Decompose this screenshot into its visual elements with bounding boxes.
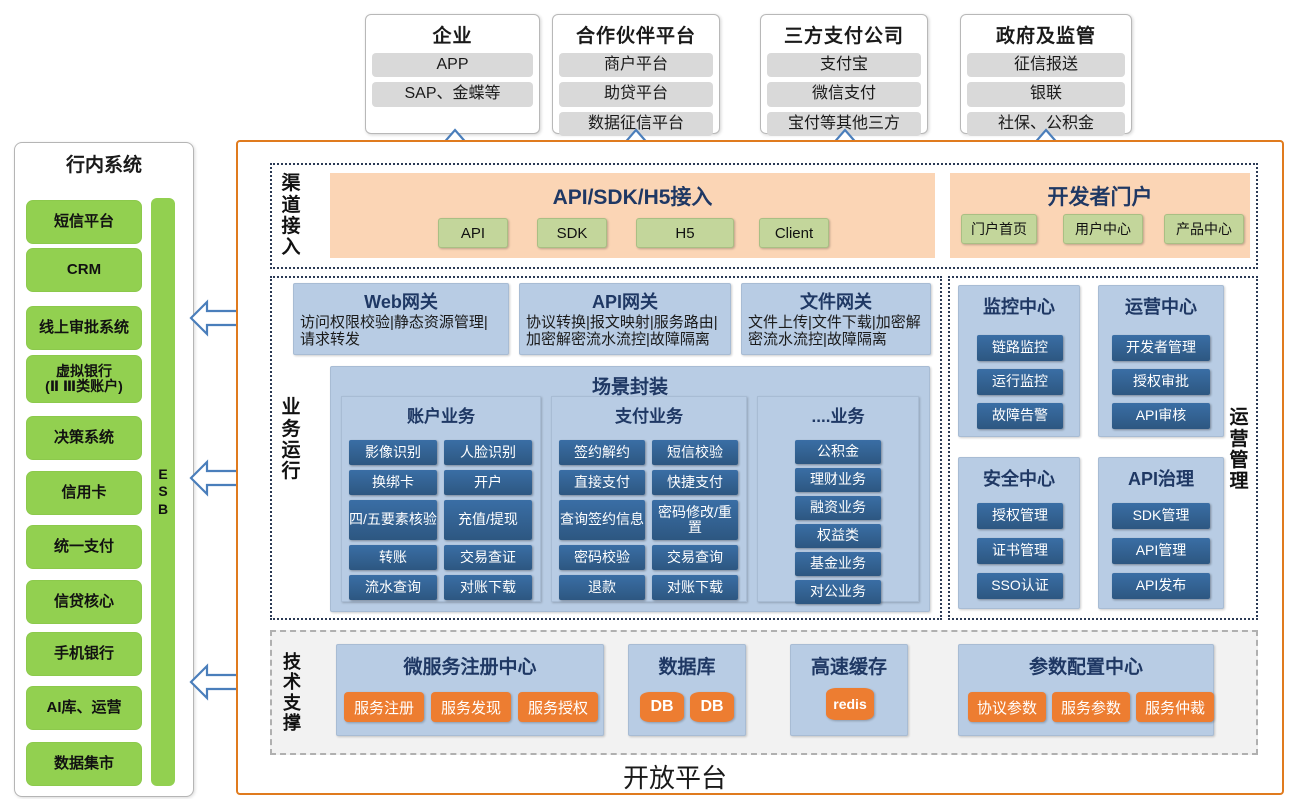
- portal-button-user-center[interactable]: 用户中心: [1063, 214, 1143, 244]
- tech-item-service-register[interactable]: 服务注册: [344, 692, 424, 722]
- partner-item: 银联: [967, 82, 1125, 106]
- scene-item-sign-unsign[interactable]: 签约解约: [559, 440, 645, 465]
- tech-item-service-parameters[interactable]: 服务参数: [1052, 692, 1130, 722]
- tech-item-service-arbitration[interactable]: 服务仲裁: [1136, 692, 1214, 722]
- operation-item-label: 运行监控: [992, 374, 1048, 389]
- scene-item-label: 四/五要素核验: [349, 512, 437, 527]
- tech-item-label: 服务发现: [441, 697, 501, 718]
- operation-management-side-label: 运 营 管 理: [1222, 395, 1256, 505]
- gateway-desc: 访问权限校验|静态资源管理|请求转发: [300, 314, 502, 349]
- partner-box-partner-platform: 合作伙伴平台 商户平台 助贷平台 数据征信平台: [552, 14, 720, 134]
- inbank-item-label: 手机银行: [54, 646, 114, 662]
- inbank-item-sms-platform[interactable]: 短信平台: [26, 200, 142, 244]
- api-sdk-h5-title: API/SDK/H5接入: [330, 181, 935, 211]
- scene-item-label: 换绑卡: [372, 475, 414, 490]
- scene-item-label: 短信校验: [667, 445, 723, 460]
- scene-item-label: 直接支付: [574, 475, 630, 490]
- operation-item-developer-management[interactable]: 开发者管理: [1112, 335, 1210, 361]
- scene-item-housing-fund[interactable]: 公积金: [795, 440, 881, 464]
- tech-item-service-discovery[interactable]: 服务发现: [431, 692, 511, 722]
- inbank-item-label: 信用卡: [61, 485, 106, 501]
- partner-box-government-regulator: 政府及监管 征信报送 银联 社保、公积金: [960, 14, 1132, 134]
- scene-item-recharge-withdraw[interactable]: 充值/提现: [444, 500, 532, 540]
- tech-panel-parameter-config-center: 参数配置中心: [958, 644, 1214, 736]
- operation-item-label: API审核: [1136, 408, 1187, 423]
- scene-item-label: 签约解约: [574, 445, 630, 460]
- scene-item-reconciliation-download[interactable]: 对账下载: [652, 575, 738, 600]
- operation-item-fault-alarm[interactable]: 故障告警: [977, 403, 1063, 429]
- scene-item-open-account[interactable]: 开户: [444, 470, 532, 495]
- channel-button-h5[interactable]: H5: [636, 218, 734, 248]
- inbank-item-label: CRM: [67, 262, 101, 278]
- inbank-item-label: 决策系统: [54, 430, 114, 446]
- partner-box-third-party-payment: 三方支付公司 支付宝 微信支付 宝付等其他三方: [760, 14, 928, 134]
- scene-group-payment-business: 支付业务: [551, 396, 747, 602]
- channel-side-label-text: 渠: [281, 173, 300, 194]
- operation-item-label: 故障告警: [992, 408, 1048, 423]
- tech-item-label: DB: [700, 698, 723, 716]
- operation-item-sdk-management[interactable]: SDK管理: [1112, 503, 1210, 529]
- partner-item: 微信支付: [767, 82, 921, 106]
- operation-item-label: 开发者管理: [1126, 340, 1196, 355]
- scene-group-title: 支付业务: [552, 402, 746, 427]
- tech-support-side-label: 技 术 支 撑: [276, 640, 308, 745]
- inbank-item-data-mart[interactable]: 数据集市: [26, 742, 142, 786]
- gateway-panel-file: 文件网关 文件上传|文件下载|加密解密流水流控|故障隔离: [741, 283, 931, 355]
- inbank-item-credit-card[interactable]: 信用卡: [26, 471, 142, 515]
- inbank-item-unified-payment[interactable]: 统一支付: [26, 525, 142, 569]
- channel-access-side-label: 渠 道 接 入: [274, 168, 308, 264]
- channel-button-api[interactable]: API: [438, 218, 508, 248]
- scene-item-transaction-verification[interactable]: 交易查证: [444, 545, 532, 570]
- partner-title: 合作伙伴平台: [576, 21, 696, 48]
- scene-item-label: 流水查询: [365, 580, 421, 595]
- tech-item-label: DB: [650, 698, 673, 716]
- scene-item-label: 密码校验: [574, 550, 630, 565]
- partner-item: 助贷平台: [559, 82, 713, 106]
- tech-item-db-1[interactable]: DB: [640, 692, 684, 722]
- scene-title: 场景封装: [331, 372, 929, 399]
- scene-item-transfer[interactable]: 转账: [349, 545, 437, 570]
- portal-button-label: 用户中心: [1075, 219, 1131, 239]
- scene-item-label: 基金业务: [810, 556, 866, 571]
- tech-item-redis[interactable]: redis: [826, 688, 874, 720]
- operation-item-authorization-approval[interactable]: 授权审批: [1112, 369, 1210, 395]
- gateway-title: API网关: [526, 288, 724, 314]
- tech-item-label: 服务注册: [354, 697, 414, 718]
- partner-box-enterprise: 企业 APP SAP、金蝶等: [365, 14, 540, 134]
- channel-button-label: Client: [775, 225, 813, 242]
- channel-button-client[interactable]: Client: [759, 218, 829, 248]
- scene-item-label: 影像识别: [365, 445, 421, 460]
- portal-button-label: 门户首页: [971, 219, 1027, 239]
- partner-title: 企业: [432, 21, 472, 48]
- scene-item-label: 查询签约信息: [560, 512, 644, 527]
- inbank-item-ai-library-operations[interactable]: AI库、运营: [26, 686, 142, 730]
- scene-item-four-five-element-verify[interactable]: 四/五要素核验: [349, 500, 437, 540]
- gateway-title: Web网关: [300, 288, 502, 314]
- operation-item-certificate-management[interactable]: 证书管理: [977, 538, 1063, 564]
- scene-item-label: 快捷支付: [667, 475, 723, 490]
- developer-portal-title: 开发者门户: [950, 181, 1250, 211]
- portal-button-product-center[interactable]: 产品中心: [1164, 214, 1244, 244]
- inbank-item-label: 虚拟银行 (Ⅱ Ⅲ类账户): [45, 364, 123, 393]
- operation-item-authorization-management[interactable]: 授权管理: [977, 503, 1063, 529]
- channel-button-label: API: [461, 225, 485, 242]
- esb-label-e: E: [158, 466, 167, 484]
- scene-group-title: 账户业务: [342, 402, 540, 427]
- esb-bus: E S B: [151, 198, 175, 786]
- inbank-item-mobile-bank[interactable]: 手机银行: [26, 632, 142, 676]
- scene-item-label: 对账下载: [667, 580, 723, 595]
- scene-item-wealth-management[interactable]: 理财业务: [795, 468, 881, 492]
- tech-item-label: redis: [833, 696, 866, 712]
- scene-item-transaction-query[interactable]: 交易查询: [652, 545, 738, 570]
- operation-item-label: 链路监控: [992, 340, 1048, 355]
- scene-item-image-recognition[interactable]: 影像识别: [349, 440, 437, 465]
- partner-item: SAP、金蝶等: [372, 82, 533, 106]
- tech-item-protocol-parameters[interactable]: 协议参数: [968, 692, 1046, 722]
- inbank-item-crm[interactable]: CRM: [26, 248, 142, 292]
- scene-item-label: 理财业务: [810, 472, 866, 487]
- scene-item-label: 人脸识别: [460, 445, 516, 460]
- operation-item-api-publish[interactable]: API发布: [1112, 573, 1210, 599]
- operation-item-label: 授权审批: [1133, 374, 1189, 389]
- gateway-desc: 协议转换|报文映射|服务路由|加密解密流水流控|故障隔离: [526, 314, 724, 349]
- scene-item-label: 退款: [588, 580, 616, 595]
- scene-item-label: 开户: [474, 475, 502, 490]
- operation-item-label: 授权管理: [992, 508, 1048, 523]
- partner-item: APP: [372, 53, 533, 77]
- scene-item-fund-business[interactable]: 基金业务: [795, 552, 881, 576]
- tech-panel-database: 数据库: [628, 644, 746, 736]
- tech-item-label: 服务授权: [528, 697, 588, 718]
- operation-item-sso-authentication[interactable]: SSO认证: [977, 573, 1063, 599]
- scene-group-account-business: 账户业务: [341, 396, 541, 602]
- inbank-item-label: 短信平台: [54, 214, 114, 230]
- tech-item-service-authorization[interactable]: 服务授权: [518, 692, 598, 722]
- tech-panel-title: 微服务注册中心: [337, 652, 603, 679]
- operation-panel-title: 监控中心: [959, 293, 1079, 319]
- tech-item-label: 服务仲裁: [1145, 697, 1205, 718]
- scene-item-transaction-flow-query[interactable]: 流水查询: [349, 575, 437, 600]
- channel-button-label: SDK: [557, 225, 588, 242]
- tech-panel-title: 高速缓存: [791, 652, 907, 679]
- inbank-item-label: AI库、运营: [46, 700, 121, 716]
- tech-item-label: 服务参数: [1061, 697, 1121, 718]
- scene-item-label: 融资业务: [810, 500, 866, 515]
- tech-panel-title: 参数配置中心: [959, 652, 1213, 679]
- tech-item-db-2[interactable]: DB: [690, 692, 734, 722]
- scene-item-rebind-card[interactable]: 换绑卡: [349, 470, 437, 495]
- inbank-item-label: 统一支付: [54, 539, 114, 555]
- portal-button-home[interactable]: 门户首页: [961, 214, 1037, 244]
- operation-item-label: SSO认证: [991, 578, 1049, 593]
- operation-item-api-management[interactable]: API管理: [1112, 538, 1210, 564]
- api-sdk-h5-access-panel: API/SDK/H5接入: [330, 173, 935, 258]
- operation-item-label: API发布: [1136, 578, 1187, 593]
- platform-title: 开放平台: [560, 758, 790, 792]
- scene-item-statement-download[interactable]: 对账下载: [444, 575, 532, 600]
- scene-item-refund[interactable]: 退款: [559, 575, 645, 600]
- scene-item-direct-payment[interactable]: 直接支付: [559, 470, 645, 495]
- gateway-panel-web: Web网关 访问权限校验|静态资源管理|请求转发: [293, 283, 509, 355]
- inbank-item-label: 信贷核心: [54, 594, 114, 610]
- operation-item-link-monitoring[interactable]: 链路监控: [977, 335, 1063, 361]
- gateway-panel-api: API网关 协议转换|报文映射|服务路由|加密解密流水流控|故障隔离: [519, 283, 731, 355]
- partner-title: 政府及监管: [996, 21, 1096, 48]
- inbank-item-label: 数据集市: [54, 756, 114, 772]
- operation-panel-title: 运营中心: [1099, 293, 1223, 319]
- business-operation-side-label: 业 务 运 行: [274, 385, 308, 495]
- operation-panel-title: API治理: [1099, 465, 1223, 491]
- scene-item-financing-business[interactable]: 融资业务: [795, 496, 881, 520]
- scene-item-label: 密码修改/重置: [652, 505, 738, 536]
- scene-group-title: ....业务: [758, 402, 918, 427]
- scene-item-label: 公积金: [817, 444, 859, 459]
- channel-button-label: H5: [675, 225, 694, 242]
- operation-item-label: 证书管理: [992, 543, 1048, 558]
- esb-label-s: S: [158, 483, 167, 501]
- inbank-item-label: 线上审批系统: [39, 320, 129, 336]
- partner-item: 支付宝: [767, 53, 921, 77]
- scene-item-query-sign-info[interactable]: 查询签约信息: [559, 500, 645, 540]
- operation-item-label: SDK管理: [1133, 508, 1190, 523]
- portal-button-label: 产品中心: [1176, 219, 1232, 239]
- partner-item: 商户平台: [559, 53, 713, 77]
- operation-item-runtime-monitoring[interactable]: 运行监控: [977, 369, 1063, 395]
- tech-panel-microservice-registry: 微服务注册中心: [336, 644, 604, 736]
- scene-item-rights-category[interactable]: 权益类: [795, 524, 881, 548]
- scene-item-label: 交易查询: [667, 550, 723, 565]
- inbank-title: 行内系统: [15, 150, 193, 177]
- operation-panel-title: 安全中心: [959, 465, 1079, 491]
- partner-item: 征信报送: [967, 53, 1125, 77]
- inbank-item-virtual-bank[interactable]: 虚拟银行 (Ⅱ Ⅲ类账户): [26, 355, 142, 403]
- gateway-title: 文件网关: [748, 288, 924, 314]
- scene-item-label: 对公业务: [810, 584, 866, 599]
- scene-item-label: 转账: [379, 550, 407, 565]
- inbank-item-decision-system[interactable]: 决策系统: [26, 416, 142, 460]
- tech-item-label: 协议参数: [977, 697, 1037, 718]
- scene-item-label: 对账下载: [460, 580, 516, 595]
- scene-item-sms-verify[interactable]: 短信校验: [652, 440, 738, 465]
- inbank-item-credit-core[interactable]: 信贷核心: [26, 580, 142, 624]
- inbank-item-online-approval[interactable]: 线上审批系统: [26, 306, 142, 350]
- scene-item-quick-payment[interactable]: 快捷支付: [652, 470, 738, 495]
- operation-item-label: API管理: [1136, 543, 1187, 558]
- partner-title: 三方支付公司: [784, 21, 904, 48]
- scene-item-label: 充值/提现: [458, 512, 518, 527]
- scene-item-face-recognition[interactable]: 人脸识别: [444, 440, 532, 465]
- scene-item-label: 交易查证: [460, 550, 516, 565]
- scene-item-label: 权益类: [817, 528, 859, 543]
- scene-item-password-change-reset[interactable]: 密码修改/重置: [652, 500, 738, 540]
- esb-label-b: B: [158, 501, 168, 519]
- scene-item-corporate-business[interactable]: 对公业务: [795, 580, 881, 604]
- scene-item-password-verify[interactable]: 密码校验: [559, 545, 645, 570]
- operation-item-api-audit[interactable]: API审核: [1112, 403, 1210, 429]
- gateway-desc: 文件上传|文件下载|加密解密流水流控|故障隔离: [748, 314, 924, 349]
- tech-panel-title: 数据库: [629, 652, 745, 679]
- channel-button-sdk[interactable]: SDK: [537, 218, 607, 248]
